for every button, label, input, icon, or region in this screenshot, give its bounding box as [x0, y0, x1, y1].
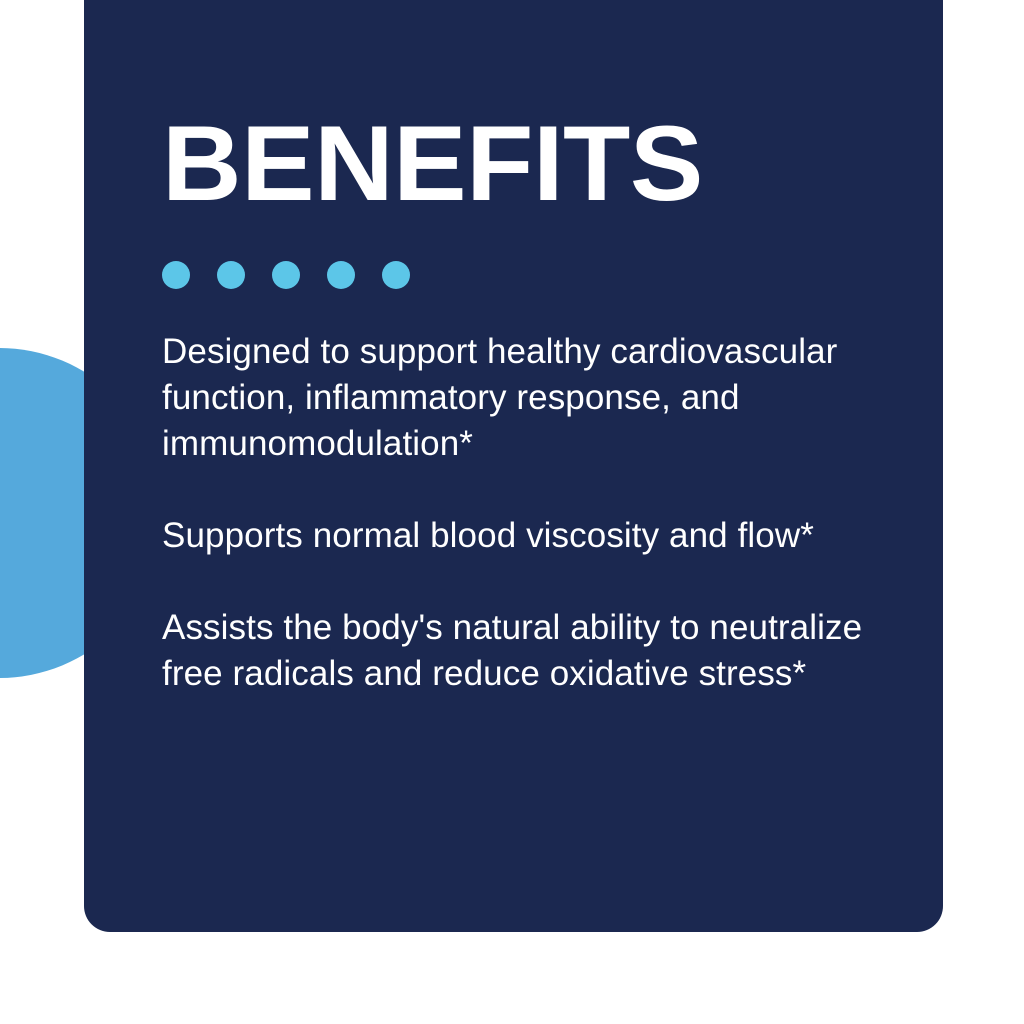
dot-divider	[162, 261, 903, 289]
benefits-list: Designed to support healthy cardiovascul…	[162, 329, 903, 697]
divider-dot-4	[327, 261, 355, 289]
divider-dot-5	[382, 261, 410, 289]
divider-dot-2	[217, 261, 245, 289]
benefits-graphic: BENEFITS Designed to support healthy car…	[0, 0, 1024, 1024]
page-title: BENEFITS	[162, 110, 925, 217]
benefits-card-content: BENEFITS Designed to support healthy car…	[162, 110, 903, 697]
divider-dot-1	[162, 261, 190, 289]
benefit-item: Supports normal blood viscosity and flow…	[162, 513, 903, 559]
benefits-card: BENEFITS Designed to support healthy car…	[84, 0, 943, 932]
divider-dot-3	[272, 261, 300, 289]
benefit-item: Designed to support healthy cardiovascul…	[162, 329, 903, 467]
benefit-item: Assists the body's natural ability to ne…	[162, 605, 903, 697]
